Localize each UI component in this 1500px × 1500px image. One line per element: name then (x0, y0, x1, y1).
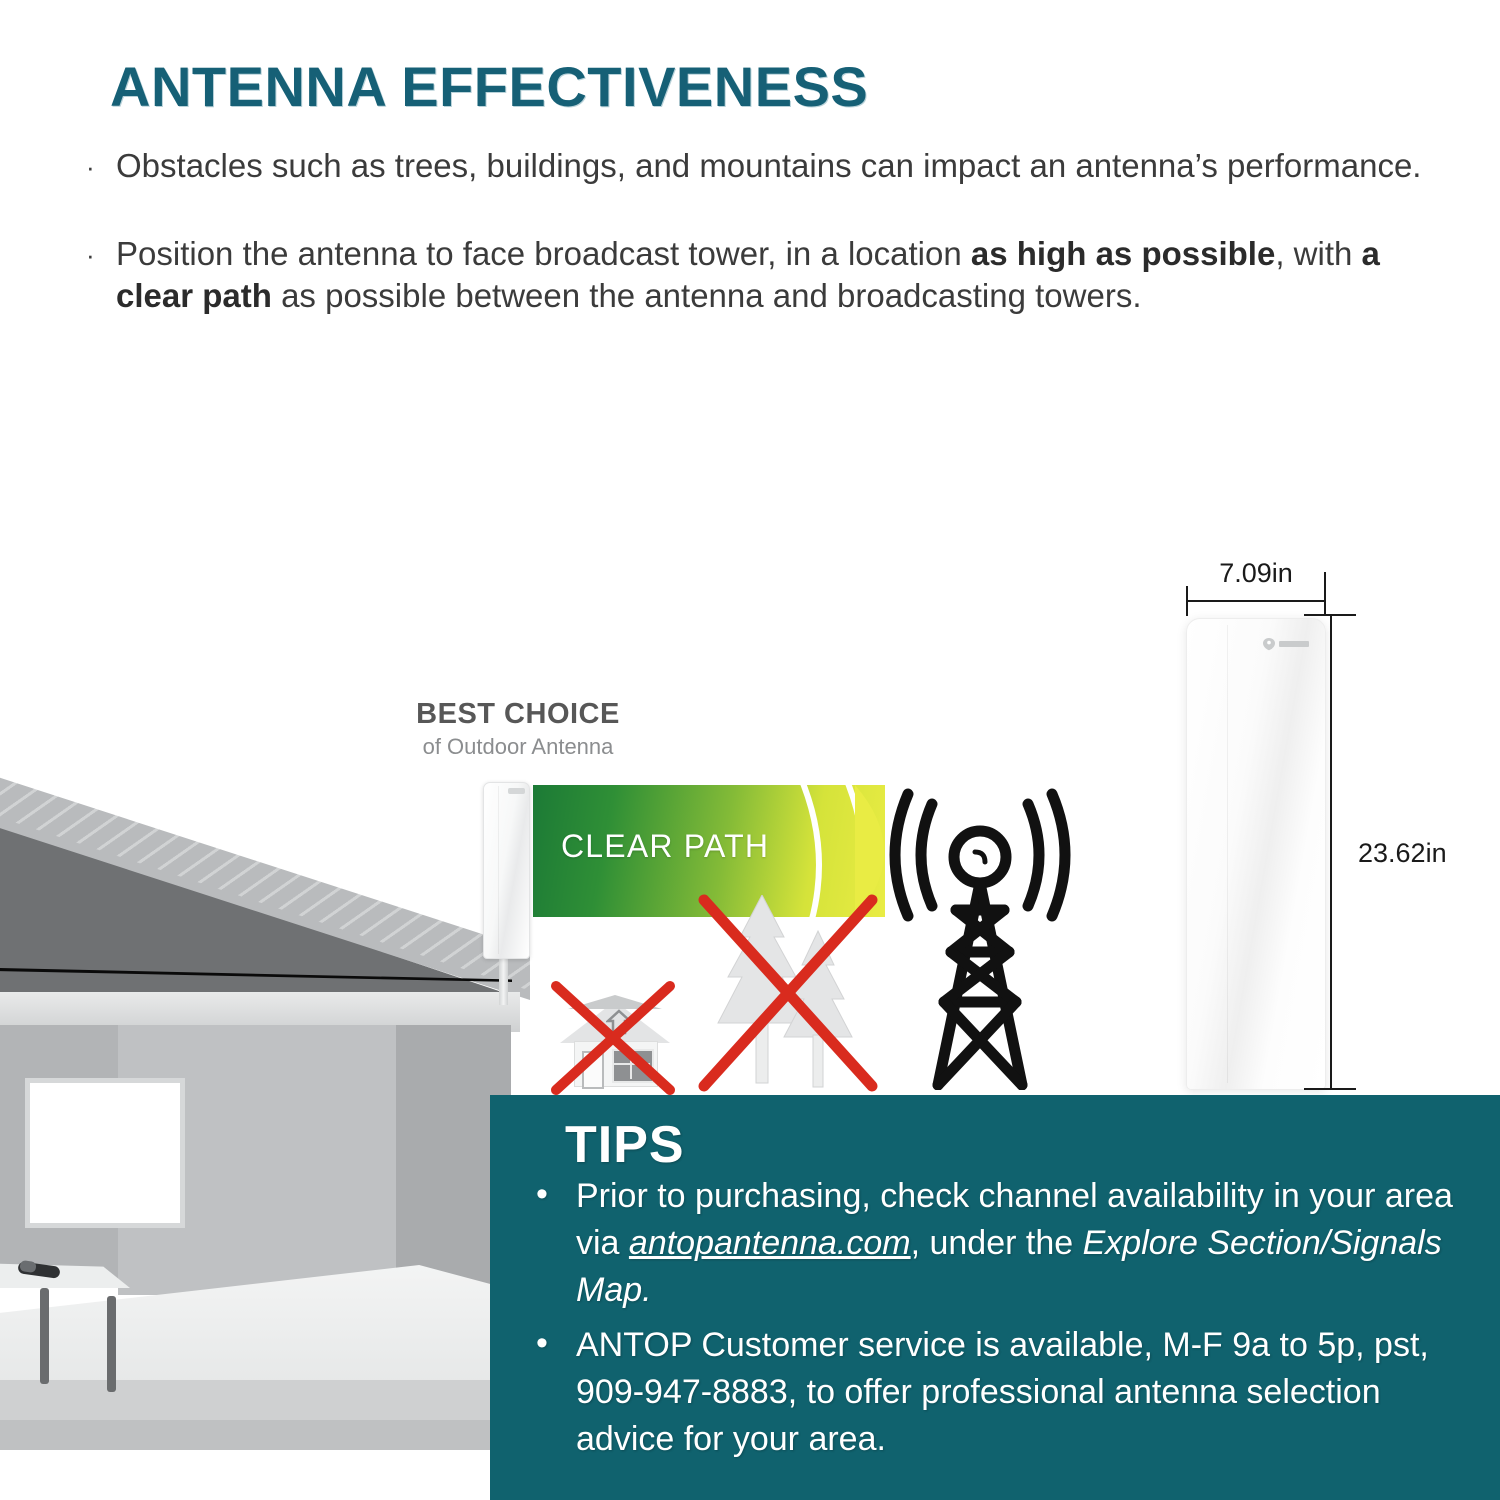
product-width-tick-right (1324, 572, 1326, 616)
intro-bullet-1-text: Obstacles such as trees, buildings, and … (116, 147, 1421, 184)
house-window (25, 1078, 185, 1228)
tip-bullet-icon: • (536, 1171, 548, 1218)
intro-bullet-2-text: Position the antenna to face broadcast t… (116, 235, 1380, 314)
antenna-mast (499, 955, 508, 1005)
product-height-label: 23.62in (1358, 838, 1447, 869)
best-choice-subtitle: of Outdoor Antenna (396, 734, 640, 760)
intro-bullet-2: · Position the antenna to face broadcast… (86, 233, 1426, 317)
clear-path-label: CLEAR PATH (561, 828, 769, 865)
bullet-marker-icon: · (86, 146, 95, 188)
tips-title: TIPS (565, 1115, 685, 1175)
product-width-tick-left (1186, 586, 1188, 616)
tip-item-2: • ANTOP Customer service is available, M… (518, 1322, 1478, 1463)
best-choice-label: BEST CHOICE of Outdoor Antenna (396, 698, 640, 760)
product-width-dimension-line (1186, 600, 1326, 602)
tip-item-1: • Prior to purchasing, check channel ava… (518, 1173, 1478, 1314)
product-height-tick-bottom (1304, 1088, 1356, 1090)
antop-logo-icon (1263, 637, 1311, 651)
antop-logo-icon (508, 788, 525, 794)
intro-bullet-list: ·Obstacles such as trees, buildings, and… (86, 145, 1426, 363)
tips-list: • Prior to purchasing, check channel ava… (518, 1173, 1478, 1471)
house-foundation-base (0, 1420, 520, 1450)
broadcast-tower (880, 780, 1080, 1090)
tips-panel: TIPS • Prior to purchasing, check channe… (490, 1095, 1500, 1500)
tip-item-1-text: Prior to purchasing, check channel avail… (576, 1177, 1453, 1309)
roof-mounted-antenna (483, 782, 530, 959)
best-choice-title: BEST CHOICE (396, 698, 640, 731)
intro-bullet-1: ·Obstacles such as trees, buildings, and… (86, 145, 1426, 187)
page-canvas: ANTENNA EFFECTIVENESS ·Obstacles such as… (0, 0, 1500, 1500)
product-height-dimension-line (1330, 614, 1332, 1090)
product-width-label: 7.09in (1186, 558, 1326, 589)
house-foundation (0, 1380, 520, 1424)
tv-remote-button (19, 1260, 36, 1273)
tip-item-2-text: ANTOP Customer service is available, M-F… (576, 1326, 1429, 1458)
bullet-marker-icon: · (86, 234, 95, 276)
page-title: ANTENNA EFFECTIVENESS (110, 54, 868, 119)
antop-outdoor-antenna (1186, 618, 1326, 1090)
house-illustration (0, 720, 520, 1500)
tree-obstacle-cross-icon (694, 890, 884, 1095)
tip-bullet-icon: • (536, 1320, 548, 1367)
table-leg (40, 1288, 49, 1384)
table-leg (107, 1296, 116, 1392)
antopantenna-link[interactable]: antopantenna.com (629, 1224, 911, 1262)
house-obstacle-cross-icon (548, 978, 678, 1098)
